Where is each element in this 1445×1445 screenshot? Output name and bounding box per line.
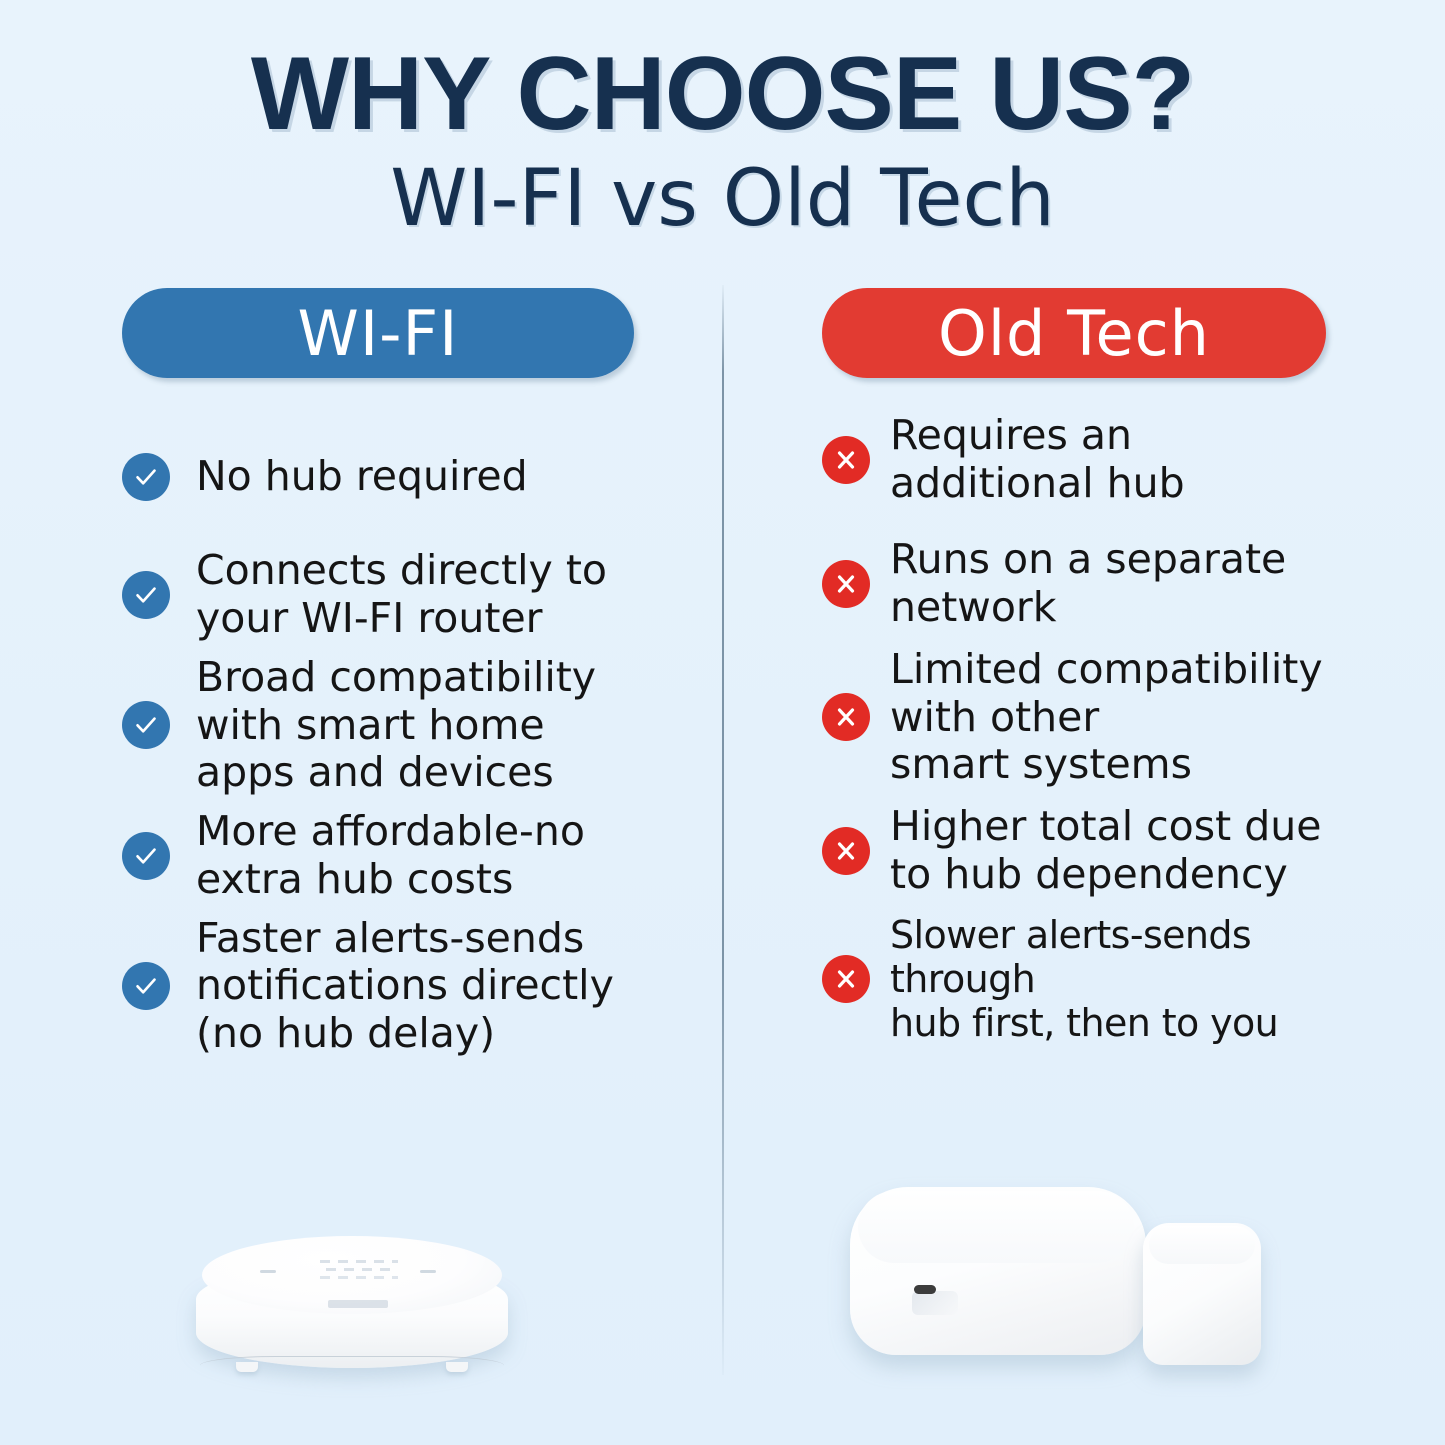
list-item-label: More affordable-no extra hub costs: [196, 808, 585, 903]
hub-top-face: [858, 1191, 1134, 1263]
x-circle-icon: [822, 827, 870, 875]
check-circle-icon: [122, 453, 170, 501]
puck-top-face: [202, 1236, 502, 1314]
old-tech-sensor-image: [1143, 1223, 1261, 1371]
check-circle-icon: [122, 962, 170, 1010]
x-circle-icon: [822, 560, 870, 608]
list-item-label: No hub required: [196, 453, 528, 501]
hub-led-indicator: [914, 1285, 936, 1294]
list-item: No hub required: [122, 418, 652, 536]
list-item-label: Higher total cost due to hub dependency: [890, 803, 1321, 898]
list-item: Broad compatibility with smart home apps…: [122, 654, 652, 797]
list-item: More affordable-no extra hub costs: [122, 797, 652, 915]
x-circle-icon: [822, 955, 870, 1003]
list-item-label: Requires an additional hub: [890, 412, 1185, 507]
puck-foot-right: [446, 1362, 468, 1372]
wifi-header-pill: WI-FI: [122, 288, 634, 378]
puck-mark-right: [420, 1270, 436, 1273]
sensor-top-face: [1149, 1226, 1255, 1264]
x-circle-icon: [822, 436, 870, 484]
list-item-label: Faster alerts-sends notifications direct…: [196, 915, 614, 1058]
old-tech-hub-image: [850, 1187, 1146, 1367]
check-circle-icon: [122, 571, 170, 619]
infographic-page: WHY CHOOSE US? WI-FI vs Old Tech WI-FI: [0, 0, 1445, 1445]
list-item-label: Connects directly to your WI-FI router: [196, 547, 607, 642]
puck-logo: [328, 1300, 388, 1308]
old-tech-header-pill: Old Tech: [822, 288, 1326, 378]
hub-emboss: [912, 1291, 958, 1315]
comparison-columns: WI-FI No hub required: [0, 288, 1445, 1057]
column-old-tech: Old Tech Requires an additional hub: [722, 288, 1444, 1057]
wifi-benefit-list: No hub required Connects directly to you…: [122, 418, 652, 1057]
old-tech-pill-label: Old Tech: [938, 297, 1210, 370]
list-item: Limited compatibility with other smart s…: [822, 646, 1384, 789]
puck-vent-grille: [320, 1260, 398, 1282]
list-item-label: Slower alerts-sends through hub first, t…: [890, 913, 1384, 1045]
list-item: Requires an additional hub: [822, 398, 1384, 522]
list-item-label: Runs on a separate network: [890, 536, 1286, 631]
page-title: WHY CHOOSE US?: [0, 0, 1445, 146]
list-item: Runs on a separate network: [822, 522, 1384, 646]
check-circle-icon: [122, 832, 170, 880]
list-item: Connects directly to your WI-FI router: [122, 536, 652, 654]
product-images: [0, 1175, 1445, 1445]
wifi-sensor-puck-image: [196, 1230, 508, 1380]
x-circle-icon: [822, 693, 870, 741]
puck-foot-left: [236, 1362, 258, 1372]
list-item-label: Limited compatibility with other smart s…: [890, 646, 1323, 789]
list-item-label: Broad compatibility with smart home apps…: [196, 654, 596, 797]
page-subtitle: WI-FI vs Old Tech: [0, 146, 1445, 238]
wifi-pill-label: WI-FI: [298, 297, 459, 370]
old-tech-drawback-list: Requires an additional hub Runs on a sep…: [822, 398, 1384, 1045]
check-circle-icon: [122, 701, 170, 749]
list-item: Higher total cost due to hub dependency: [822, 789, 1384, 913]
header: WHY CHOOSE US? WI-FI vs Old Tech: [0, 0, 1445, 238]
list-item: Slower alerts-sends through hub first, t…: [822, 913, 1384, 1045]
column-wifi: WI-FI No hub required: [0, 288, 722, 1057]
list-item: Faster alerts-sends notifications direct…: [122, 915, 652, 1058]
puck-mark-left: [260, 1270, 276, 1273]
